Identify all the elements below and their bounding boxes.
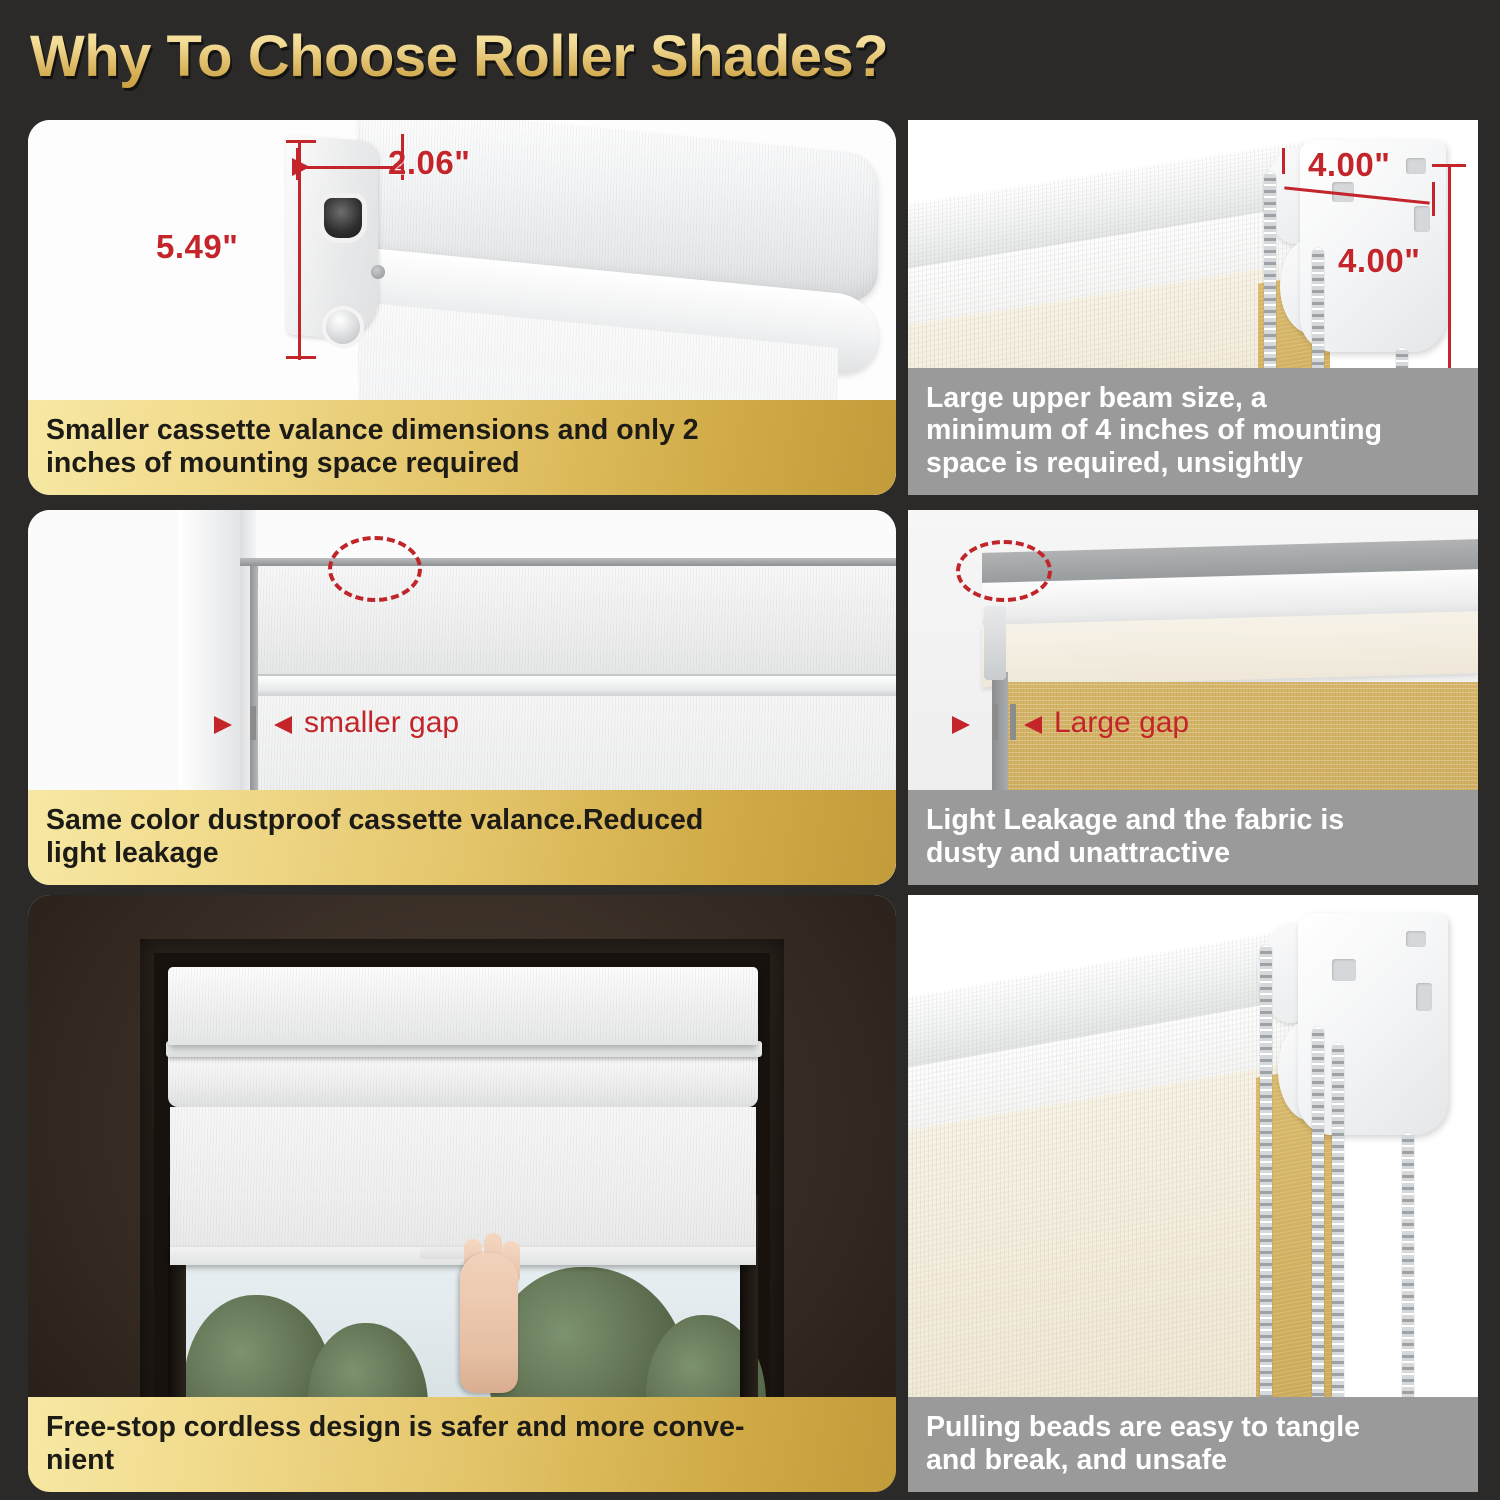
caption-line: Pulling beads are easy to tangle (926, 1411, 1460, 1443)
gap-marker-bar (250, 706, 256, 740)
bracket-slot-2 (1416, 983, 1432, 1011)
cassette-valance (168, 967, 758, 1045)
height-tick-top (286, 140, 316, 143)
panel-dustproof-cassette-valance: smaller gap Same color dustproof cassett… (28, 510, 896, 885)
caption-line: minimum of 4 inches of mounting (926, 414, 1460, 446)
height-dimension-line (298, 140, 301, 360)
bracket-slot-1 (1406, 158, 1426, 174)
beam-width-tick-right (1432, 182, 1435, 216)
gap-arrow-left-icon (1024, 716, 1042, 734)
gap-arrow-left-icon (274, 716, 292, 734)
beam-width-tick-left (1282, 148, 1285, 174)
bracket-slot-3 (1332, 959, 1356, 981)
caption-line: space is required, unsightly (926, 447, 1460, 479)
beam-height-label: 4.00" (1338, 242, 1420, 280)
gap-marker-bar-left (992, 704, 998, 740)
cassette-screw (371, 265, 385, 279)
beam-height-dimension-line (1448, 164, 1451, 370)
beam-height-tick-top (1432, 164, 1466, 167)
shade-mid-rail (256, 674, 896, 696)
height-tick-bottom (286, 356, 316, 359)
caption-line: and break, and unsafe (926, 1444, 1460, 1476)
bracket-slot-1 (1406, 931, 1426, 947)
highlight-circle-icon (328, 536, 422, 602)
caption-line: dusty and unattractive (926, 837, 1460, 869)
caption-line: Light Leakage and the fabric is (926, 804, 1460, 836)
panel-smaller-cassette-valance: 2.06" 5.49" Smaller cassette valance dim… (28, 120, 896, 495)
bracket-slot-2 (1414, 206, 1430, 232)
cassette-clutch-slot (324, 198, 362, 238)
caption-line: light leakage (46, 837, 878, 869)
width-dimension-label: 2.06" (388, 144, 470, 182)
caption-line: Same color dustproof cassette valance.Re… (46, 804, 878, 836)
hand-pulling-shade (460, 1253, 518, 1393)
caption-line: inches of mounting space required (46, 447, 878, 479)
panel-free-stop-cordless: Free-stop cordless design is safer and m… (28, 895, 896, 1492)
highlight-circle-icon (956, 540, 1052, 602)
panel-pulling-beads: Pulling beads are easy to tangle and bre… (908, 895, 1478, 1492)
gap-label: Large gap (1054, 706, 1189, 740)
height-dimension-label: 5.49" (156, 228, 238, 266)
cassette-mount-pin (326, 310, 360, 344)
gap-arrow-right-icon (214, 716, 232, 734)
panel-2-caption: Large upper beam size, a minimum of 4 in… (908, 368, 1478, 495)
panel-large-upper-beam: 4.00" 4.00" Large upper beam size, a min… (908, 120, 1478, 495)
roller-shade-fabric (170, 1107, 756, 1255)
panel-3-caption: Same color dustproof cassette valance.Re… (28, 790, 896, 885)
width-arrow-right-icon (292, 158, 310, 176)
gap-label: smaller gap (304, 706, 459, 740)
page-header: Why To Choose Roller Shades? (0, 0, 1500, 112)
page-title: Why To Choose Roller Shades? (30, 23, 888, 90)
panel-1-caption: Smaller cassette valance dimensions and … (28, 400, 896, 495)
caption-line: Free-stop cordless design is safer and m… (46, 1411, 878, 1443)
panel-light-leakage: Large gap Light Leakage and the fabric i… (908, 510, 1478, 885)
beam-width-label: 4.00" (1308, 146, 1390, 184)
bracket-clip (984, 606, 1006, 680)
cassette-roller (168, 1055, 758, 1107)
panel-4-caption: Light Leakage and the fabric is dusty an… (908, 790, 1478, 885)
caption-line: Smaller cassette valance dimensions and … (46, 414, 878, 446)
gap-marker-bar-right (1010, 704, 1016, 740)
comparison-grid: 2.06" 5.49" Smaller cassette valance dim… (0, 112, 1500, 1500)
caption-line: Large upper beam size, a (926, 382, 1460, 414)
panel-5-caption: Free-stop cordless design is safer and m… (28, 1397, 896, 1492)
bead-chain-1[interactable] (1260, 945, 1272, 1465)
panel-6-caption: Pulling beads are easy to tangle and bre… (908, 1397, 1478, 1492)
gap-arrow-right-icon (952, 716, 970, 734)
caption-line: nient (46, 1444, 878, 1476)
